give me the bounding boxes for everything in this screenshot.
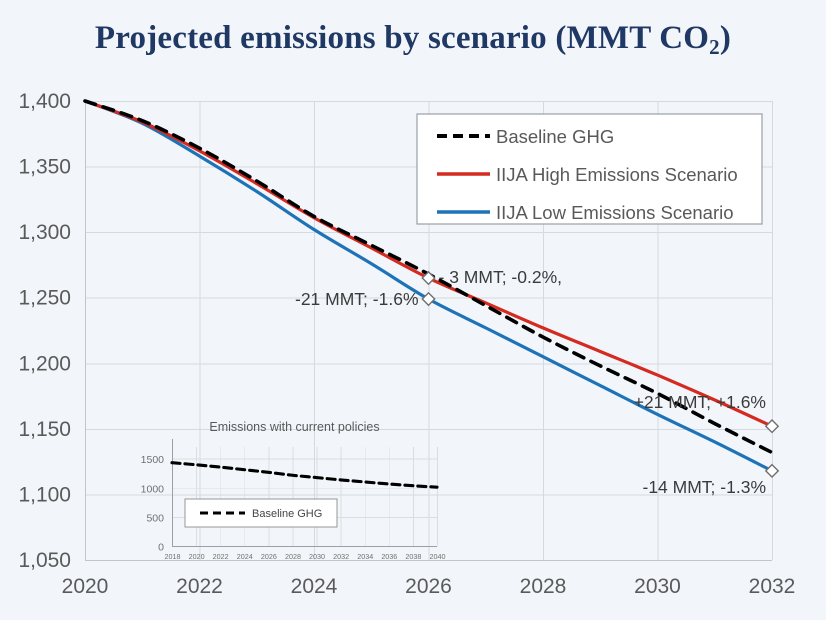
- inset-x-tick-label: 2028: [285, 552, 301, 561]
- inset-x-tick-label: 2036: [381, 552, 397, 561]
- y-tick-label: 1,200: [18, 352, 71, 375]
- inset-y-tick-label: 0: [158, 542, 164, 554]
- inset-x-tick-label: 2030: [309, 552, 325, 561]
- y-tick-label: 1,100: [18, 483, 71, 506]
- low-2026-annotation: -21 MMT; -1.6%: [295, 289, 419, 309]
- y-tick-label: 1,050: [18, 549, 71, 572]
- high-2026-annotation: - 3 MMT; -0.2%,: [439, 267, 563, 287]
- data-point-marker[interactable]: [766, 465, 778, 477]
- inset-chart-title: Emissions with current policies: [209, 420, 379, 434]
- inset-x-tick-label: 2032: [333, 552, 349, 561]
- annotation-layer: - 3 MMT; -0.2%,-21 MMT; -1.6%+21 MMT; +1…: [295, 267, 766, 497]
- emissions-line-chart: Emissions with current policies050010001…: [0, 0, 826, 620]
- legend-label-1[interactable]: Baseline GHG: [496, 126, 614, 147]
- data-point-marker[interactable]: [766, 420, 778, 432]
- legend-label-2[interactable]: IIJA High Emissions Scenario: [496, 164, 738, 185]
- x-tick-label: 2022: [176, 575, 223, 598]
- legend-label-3[interactable]: IIJA Low Emissions Scenario: [496, 202, 734, 223]
- inset-chart: Emissions with current policies050010001…: [141, 420, 446, 561]
- inset-x-tick-label: 2024: [237, 552, 253, 561]
- y-tick-label: 1,250: [18, 287, 71, 310]
- inset-series-line-baseline-ghg: [172, 463, 437, 487]
- x-tick-label: 2020: [62, 575, 109, 598]
- inset-x-tick-label: 2018: [165, 552, 181, 561]
- x-tick-label: 2026: [405, 575, 452, 598]
- inset-x-tick-label: 2038: [405, 552, 421, 561]
- x-tick-label: 2024: [291, 575, 338, 598]
- high-2032-annotation: +21 MMT; +1.6%: [634, 392, 766, 412]
- x-tick-label: 2030: [634, 575, 681, 598]
- x-tick-label: 2028: [520, 575, 567, 598]
- inset-y-tick-label: 1000: [141, 483, 165, 495]
- chart-legend[interactable]: Baseline GHGIIJA High Emissions Scenario…: [417, 114, 762, 224]
- low-2032-annotation: -14 MMT; -1.3%: [643, 477, 767, 497]
- chart-root: Projected emissions by scenario (MMT CO2…: [0, 0, 826, 620]
- inset-x-tick-label: 2020: [189, 552, 205, 561]
- inset-x-tick-label: 2040: [430, 552, 446, 561]
- x-tick-label: 2032: [749, 575, 796, 598]
- y-tick-label: 1,350: [18, 156, 71, 179]
- inset-x-tick-label: 2022: [213, 552, 229, 561]
- inset-y-tick-label: 1500: [141, 454, 165, 466]
- inset-x-tick-label: 2034: [357, 552, 373, 561]
- inset-legend-label[interactable]: Baseline GHG: [252, 508, 322, 520]
- inset-x-tick-label: 2026: [261, 552, 277, 561]
- y-tick-label: 1,150: [18, 418, 71, 441]
- y-tick-label: 1,300: [18, 221, 71, 244]
- y-tick-label: 1,400: [18, 90, 71, 113]
- inset-y-tick-label: 500: [146, 512, 164, 524]
